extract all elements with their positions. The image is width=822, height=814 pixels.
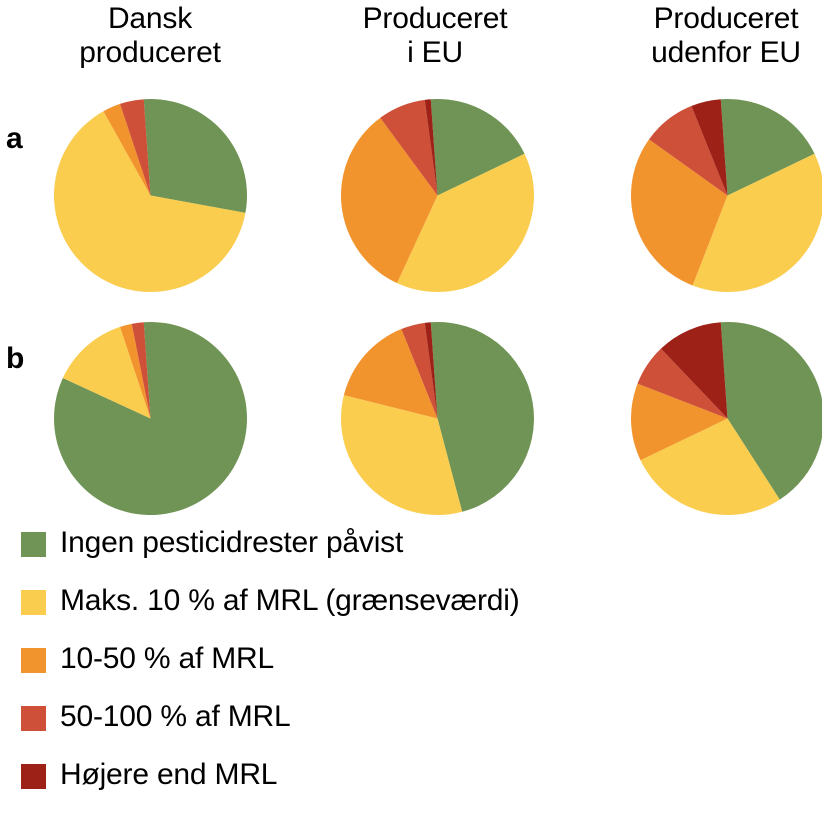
legend-item-label: Maks. 10 % af MRL (grænseværdi) <box>60 580 520 622</box>
column-header-line2: i EU <box>320 36 550 70</box>
legend-item-label: Højere end MRL <box>60 754 277 796</box>
pie-chart-a-dansk-produceret <box>54 99 247 292</box>
legend-item-10-50-pct-af-mrl: 10-50 % af MRL <box>0 640 822 698</box>
pie-chart-b-produceret-i-eu <box>341 322 534 515</box>
pie-chart-a-produceret-i-eu <box>341 99 534 292</box>
column-header-produceret-i-eu: Produceret i EU <box>320 2 550 69</box>
figure-root: Dansk produceret Produceret i EU Produce… <box>0 0 822 812</box>
column-header-produceret-udenfor-eu: Produceret udenfor EU <box>610 2 822 69</box>
legend-item-label: 50-100 % af MRL <box>60 696 290 738</box>
legend: Ingen pesticidrester påvist Maks. 10 % a… <box>0 524 822 814</box>
column-header-line1: Produceret <box>320 2 550 36</box>
pie-chart-b-dansk-produceret <box>54 322 247 515</box>
legend-swatch-icon <box>21 764 46 789</box>
column-header-line1: Produceret <box>610 2 822 36</box>
legend-swatch-icon <box>21 648 46 673</box>
legend-item-maks-10-pct-af-mrl: Maks. 10 % af MRL (grænseværdi) <box>0 582 822 640</box>
legend-swatch-icon <box>21 706 46 731</box>
legend-item-label: Ingen pesticidrester påvist <box>60 522 403 564</box>
row-label-a: a <box>6 124 23 154</box>
legend-item-hojere-end-mrl: Højere end MRL <box>0 756 822 814</box>
legend-item-label: 10-50 % af MRL <box>60 638 274 680</box>
legend-swatch-icon <box>21 532 46 557</box>
row-label-b: b <box>6 344 24 374</box>
column-header-line2: produceret <box>35 36 265 70</box>
legend-swatch-icon <box>21 590 46 615</box>
pie-chart-a-produceret-udenfor-eu <box>631 99 822 292</box>
column-header-dansk-produceret: Dansk produceret <box>35 2 265 69</box>
pie-slice <box>144 99 247 213</box>
column-header-line2: udenfor EU <box>610 36 822 70</box>
column-header-line1: Dansk <box>35 2 265 36</box>
legend-item-50-100-pct-af-mrl: 50-100 % af MRL <box>0 698 822 756</box>
legend-item-ingen-pesticidrester: Ingen pesticidrester påvist <box>0 524 822 582</box>
pie-chart-b-produceret-udenfor-eu <box>631 322 822 515</box>
